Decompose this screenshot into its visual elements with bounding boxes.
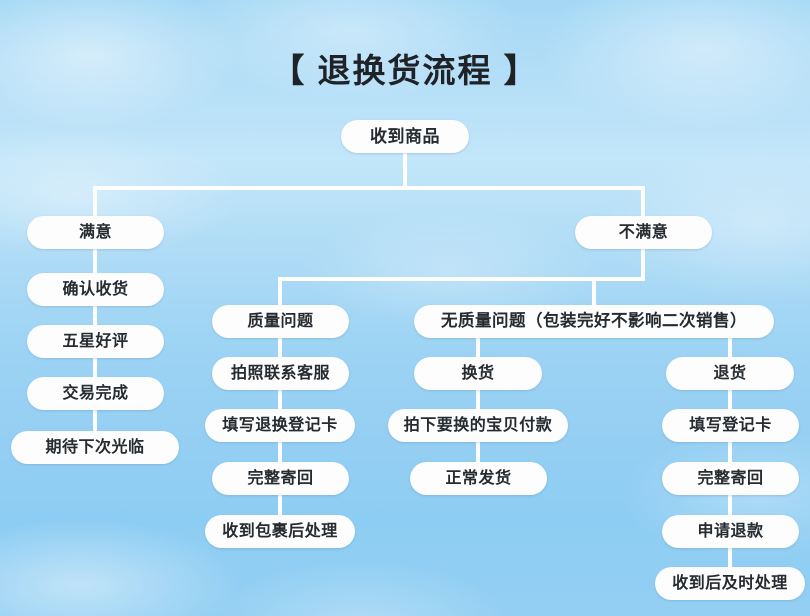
node-five-star-review[interactable]: 五星好评 bbox=[27, 325, 164, 358]
connector-card-to-intact bbox=[728, 441, 732, 463]
page-title: 【 退换货流程 】 bbox=[0, 44, 810, 92]
node-apply-refund[interactable]: 申请退款 bbox=[662, 515, 799, 548]
node-send-back-intact-mid[interactable]: 完整寄回 bbox=[212, 462, 349, 495]
node-confirm-receipt[interactable]: 确认收货 bbox=[27, 273, 164, 306]
connector-unsatisfied-down bbox=[641, 248, 645, 279]
node-normal-shipping[interactable]: 正常发货 bbox=[410, 462, 547, 495]
node-quality-issue[interactable]: 质量问题 bbox=[212, 305, 349, 338]
connector-to-refund-return bbox=[728, 337, 732, 358]
node-send-back-intact[interactable]: 完整寄回 bbox=[662, 462, 799, 495]
connector-to-no-quality-issue bbox=[592, 277, 596, 306]
connector-exchange-to-pay bbox=[476, 389, 480, 410]
node-handle-after-parcel[interactable]: 收到包裹后处理 bbox=[205, 515, 355, 548]
connector-to-exchange bbox=[476, 337, 480, 358]
node-no-quality-issue[interactable]: 无质量问题（包装完好不影响二次销售） bbox=[414, 305, 774, 338]
node-exchange[interactable]: 换货 bbox=[414, 357, 542, 390]
node-pay-for-new-item[interactable]: 拍下要换的宝贝付款 bbox=[388, 409, 568, 442]
node-photo-contact-service[interactable]: 拍照联系客服 bbox=[212, 357, 349, 390]
node-handle-after-receipt[interactable]: 收到后及时处理 bbox=[655, 567, 805, 600]
connector-to-quality-issue bbox=[278, 277, 282, 306]
connector-return-to-card bbox=[728, 389, 732, 410]
node-received-goods[interactable]: 收到商品 bbox=[341, 120, 469, 153]
connector-to-unsatisfied bbox=[641, 186, 645, 217]
cloud-wisp-bottom-mid bbox=[210, 560, 510, 616]
node-fill-exchange-card[interactable]: 填写退换登记卡 bbox=[205, 409, 355, 442]
connector-confirm-to-review bbox=[93, 305, 97, 326]
connector-level1-bar bbox=[93, 186, 645, 190]
connector-photo-to-card bbox=[278, 389, 282, 410]
node-return-goods[interactable]: 退货 bbox=[666, 357, 794, 390]
connector-quality-to-photo bbox=[278, 337, 282, 358]
connector-level2-bar bbox=[278, 277, 645, 281]
connector-review-to-complete bbox=[93, 357, 97, 378]
connector-complete-to-welcome bbox=[93, 409, 97, 431]
connector-pay-to-ship bbox=[476, 441, 480, 463]
node-fill-register-card[interactable]: 填写登记卡 bbox=[662, 409, 799, 442]
connector-intact-to-parcel bbox=[278, 494, 282, 516]
connector-to-satisfied bbox=[93, 186, 97, 217]
node-unsatisfied[interactable]: 不满意 bbox=[575, 216, 712, 249]
connector-apply-to-handle bbox=[728, 547, 732, 568]
cloud-wisp-bottom-left bbox=[0, 520, 240, 616]
node-welcome-next-time[interactable]: 期待下次光临 bbox=[11, 431, 179, 464]
flowchart-canvas: 【 退换货流程 】 收到商品 满意 不满意 确认收货 五星好评 交易完成 期待下… bbox=[0, 0, 810, 616]
node-satisfied[interactable]: 满意 bbox=[27, 216, 164, 249]
connector-intact-to-apply bbox=[728, 494, 732, 516]
node-transaction-complete[interactable]: 交易完成 bbox=[27, 377, 164, 410]
connector-satisfied-to-confirm bbox=[93, 248, 97, 274]
connector-root-down bbox=[403, 152, 407, 189]
connector-card-to-return-intact bbox=[278, 441, 282, 463]
